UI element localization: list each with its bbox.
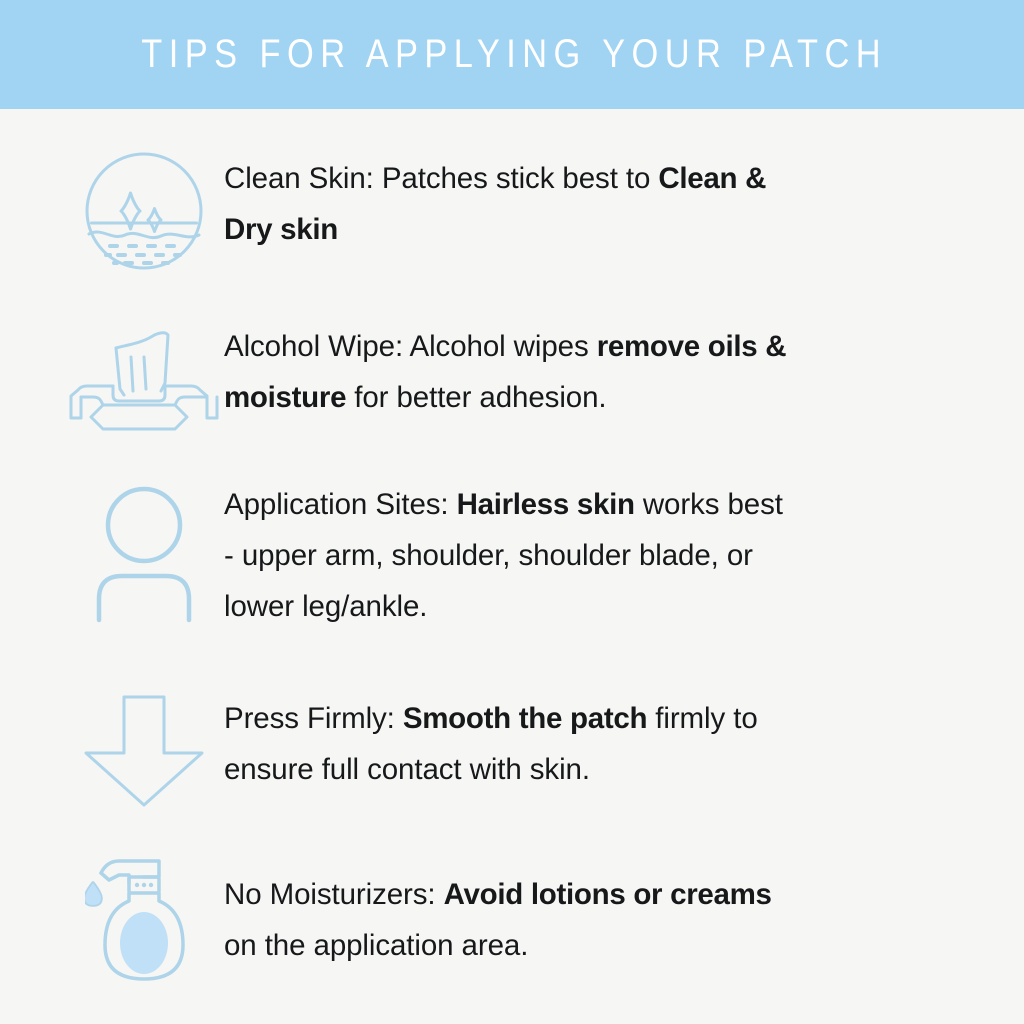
tip-text-run: on the application area. bbox=[224, 929, 528, 962]
tip-icon-container bbox=[64, 307, 224, 433]
tip-line: lower leg/ankle. bbox=[224, 581, 944, 632]
tip-line: on the application area. bbox=[224, 920, 944, 971]
tip-item-alcohol-wipe: Alcohol Wipe: Alcohol wipes remove oils … bbox=[64, 307, 984, 463]
lotion-bottle-icon bbox=[85, 853, 203, 985]
tips-list: Clean Skin: Patches stick best to Clean … bbox=[0, 109, 1024, 1024]
tip-text-run: for better adhesion. bbox=[346, 381, 606, 414]
tip-text-alcohol-wipe: Alcohol Wipe: Alcohol wipes remove oils … bbox=[224, 307, 944, 423]
tip-item-press-firmly: Press Firmly: Smooth the patch firmly to… bbox=[64, 669, 984, 835]
tip-text-run: No Moisturizers: bbox=[224, 878, 444, 911]
tip-line: Clean Skin: Patches stick best to Clean … bbox=[224, 153, 944, 204]
bottle-label bbox=[120, 912, 168, 974]
header-banner: TIPS FOR APPLYING YOUR PATCH bbox=[0, 0, 1024, 109]
tip-text-press-firmly: Press Firmly: Smooth the patch firmly to… bbox=[224, 669, 944, 795]
tip-text-run: Press Firmly: bbox=[224, 702, 403, 735]
tip-line: moisture for better adhesion. bbox=[224, 372, 944, 423]
water-drop-icon bbox=[85, 883, 101, 905]
tip-line: Application Sites: Hairless skin works b… bbox=[224, 479, 944, 530]
page-title: TIPS FOR APPLYING YOUR PATCH bbox=[137, 32, 888, 77]
tip-text-emphasis: Dry skin bbox=[224, 213, 338, 246]
tip-icon-container bbox=[64, 835, 224, 985]
tip-item-application-sites: Application Sites: Hairless skin works b… bbox=[64, 463, 984, 669]
tip-text-application-sites: Application Sites: Hairless skin works b… bbox=[224, 463, 944, 632]
tip-line: ensure full contact with skin. bbox=[224, 744, 944, 795]
tip-line: Alcohol Wipe: Alcohol wipes remove oils … bbox=[224, 321, 944, 372]
infographic-page: TIPS FOR APPLYING YOUR PATCH bbox=[0, 0, 1024, 1024]
wipes-pack-icon bbox=[69, 329, 219, 433]
tip-line: Dry skin bbox=[224, 204, 944, 255]
down-arrow-icon bbox=[80, 693, 208, 809]
person-icon bbox=[81, 483, 207, 623]
tip-text-emphasis: Clean & bbox=[658, 162, 766, 195]
tip-text-emphasis: Hairless skin bbox=[457, 488, 635, 521]
tip-text-emphasis: remove oils & bbox=[597, 330, 787, 363]
tip-text-no-moisturizers: No Moisturizers: Avoid lotions or creams… bbox=[224, 835, 944, 971]
tip-icon-container bbox=[64, 141, 224, 273]
tip-text-run: ensure full contact with skin. bbox=[224, 753, 590, 786]
tip-line: Press Firmly: Smooth the patch firmly to bbox=[224, 693, 944, 744]
tip-icon-container bbox=[64, 463, 224, 623]
sparkle-skin-circle-icon bbox=[82, 149, 206, 273]
tip-text-run: firmly to bbox=[647, 702, 757, 735]
tip-text-run: lower leg/ankle. bbox=[224, 590, 427, 623]
tip-line: - upper arm, shoulder, shoulder blade, o… bbox=[224, 530, 944, 581]
tip-icon-container bbox=[64, 669, 224, 809]
tip-text-run: works best bbox=[635, 488, 783, 521]
tip-text-run: Application Sites: bbox=[224, 488, 457, 521]
pump-vents bbox=[135, 883, 153, 887]
tip-text-emphasis: Avoid lotions or creams bbox=[444, 878, 772, 911]
tip-item-clean-skin: Clean Skin: Patches stick best to Clean … bbox=[64, 141, 984, 307]
tip-item-no-moisturizers: No Moisturizers: Avoid lotions or creams… bbox=[64, 835, 984, 1005]
tip-text-run: Alcohol Wipe: Alcohol wipes bbox=[224, 330, 597, 363]
tip-text-run: Clean Skin: Patches stick best to bbox=[224, 162, 658, 195]
tip-text-emphasis: moisture bbox=[224, 381, 346, 414]
tip-text-run: - upper arm, shoulder, shoulder blade, o… bbox=[224, 539, 753, 572]
tip-text-emphasis: Smooth the patch bbox=[403, 702, 647, 735]
tip-text-clean-skin: Clean Skin: Patches stick best to Clean … bbox=[224, 141, 944, 255]
tip-line: No Moisturizers: Avoid lotions or creams bbox=[224, 869, 944, 920]
